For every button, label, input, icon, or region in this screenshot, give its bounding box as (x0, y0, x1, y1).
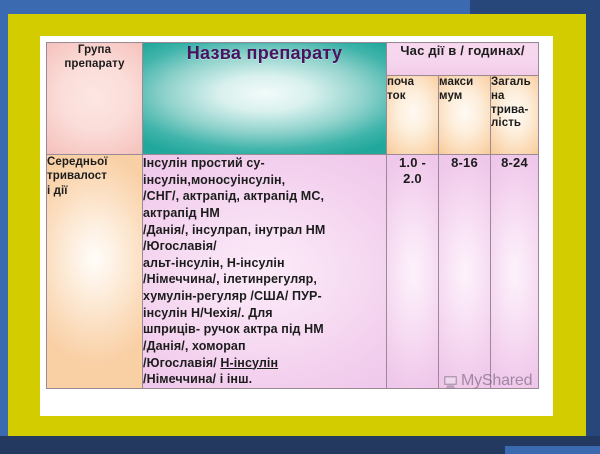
subheader-total-line-4: лість (491, 117, 538, 131)
subheader-start-line-2: ток (387, 90, 438, 104)
drug-name-text: альт-інсулін, Н-інсулін (143, 256, 285, 270)
peak-value: 8-16 (439, 155, 490, 171)
drug-name-text: інсулін Н/Чехія/. Для (143, 306, 273, 320)
drug-name-line: інсулін,моносуінсулін, (143, 172, 386, 189)
drug-name-line: /Югославія/ Н-інсулін (143, 355, 386, 372)
drug-name-line: хумулін-регуляр /США/ ПУР- (143, 288, 386, 305)
drug-name-text: /Німеччина/, ілетинрегуляр, (143, 272, 317, 286)
cell-onset-time: 1.0 - 2.0 (387, 155, 439, 389)
drug-name-line: /Данія/, хоморап (143, 338, 386, 355)
subheader-total-line-2: на (491, 90, 538, 104)
drug-name-text: шприців- ручок актра під НМ (143, 322, 324, 336)
table-row: Середньої тривалост і дії Інсулін прости… (47, 155, 539, 389)
drug-group-line-1: Середньої (47, 155, 142, 169)
header-cell-group: Група препарату (47, 43, 143, 155)
header-cell-time-span: Час дії в / годинах/ (387, 43, 539, 76)
header-group-label: Група препарату (64, 44, 124, 70)
table-header-row: Група препарату Назва препарату Час дії … (47, 43, 539, 76)
drug-name-text: інсулін,моносуінсулін, (143, 173, 285, 187)
drug-name-text: /Югославія/ (143, 239, 217, 253)
subheader-cell-total: Загаль на трива- лість (491, 76, 539, 155)
drug-group-line-3: і дії (47, 184, 142, 198)
subheader-start-line-1: поча (387, 76, 438, 90)
subheader-cell-start: поча ток (387, 76, 439, 155)
header-cell-drug-name: Назва препарату (143, 43, 387, 155)
cell-total-duration: 8-24 (491, 155, 539, 389)
drug-name-line: Інсулін простий су- (143, 155, 386, 172)
drug-name-line: /Югославія/ (143, 238, 386, 255)
insulin-duration-table: Група препарату Назва препарату Час дії … (46, 42, 539, 389)
drug-names-list: Інсулін простий су-інсулін,моносуінсулін… (143, 155, 386, 388)
drug-name-line: інсулін Н/Чехія/. Для (143, 305, 386, 322)
subheader-cell-max: макси мум (439, 76, 491, 155)
drug-name-text: /Данія/, інсулрап, інутрал НМ (143, 223, 325, 237)
drug-name-line: актрапід НМ (143, 205, 386, 222)
total-duration-value: 8-24 (491, 155, 538, 171)
onset-line-1: 1.0 - (387, 155, 438, 171)
cell-drug-group: Середньої тривалост і дії (47, 155, 143, 389)
drug-name-line: шприців- ручок актра під НМ (143, 321, 386, 338)
drug-name-text: актрапід НМ (143, 206, 220, 220)
subheader-total-line-1: Загаль (491, 76, 538, 90)
drug-name-line: альт-інсулін, Н-інсулін (143, 255, 386, 272)
bottom-right-accent-strip (505, 446, 600, 454)
drug-name-line: /Данія/, інсулрап, інутрал НМ (143, 222, 386, 239)
drug-name-text-emphasis: Н-інсулін (220, 356, 278, 370)
drug-name-text: хумулін-регуляр /США/ ПУР- (143, 289, 322, 303)
drug-name-text: Інсулін простий су- (143, 156, 265, 170)
slide-canvas: Група препарату Назва препарату Час дії … (0, 0, 600, 454)
cell-drug-names: Інсулін простий су-інсулін,моносуінсулін… (143, 155, 387, 389)
drug-name-text: /Данія/, хоморап (143, 339, 246, 353)
drug-name-line: /Німеччина/, ілетинрегуляр, (143, 271, 386, 288)
subheader-total-line-3: трива- (491, 104, 538, 118)
drug-name-line: /СНГ/, актрапід, актрапід МС, (143, 188, 386, 205)
drug-name-text: /СНГ/, актрапід, актрапід МС, (143, 189, 324, 203)
onset-line-2: 2.0 (387, 171, 438, 187)
drug-name-text: /Німеччина/ і інш. (143, 372, 252, 386)
top-accent-strip (470, 0, 600, 14)
drug-name-line: /Німеччина/ і інш. (143, 371, 386, 388)
drug-name-text: /Югославія/ (143, 356, 220, 370)
header-time-label: Час дії в / годинах/ (400, 43, 524, 58)
header-drug-name-label: Назва препарату (187, 43, 343, 63)
subheader-max-line-2: мум (439, 90, 490, 104)
cell-peak-time: 8-16 (439, 155, 491, 389)
subheader-max-line-1: макси (439, 76, 490, 90)
drug-group-line-2: тривалост (47, 169, 142, 183)
right-accent-strip (586, 0, 600, 454)
